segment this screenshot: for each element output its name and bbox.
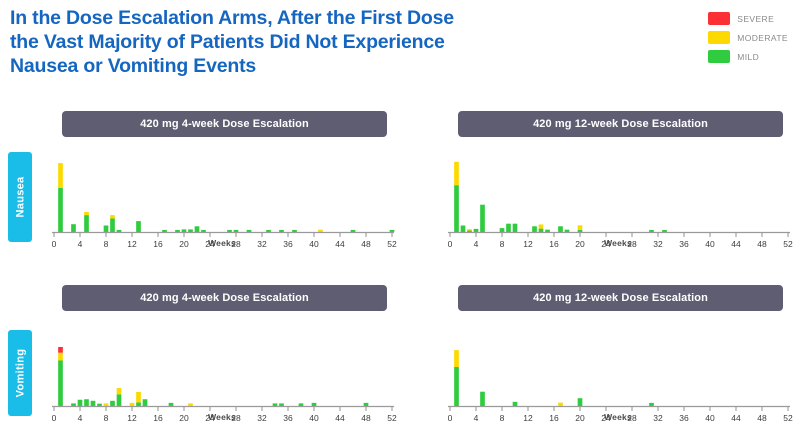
- bar-segment: [292, 230, 297, 232]
- chart-vomiting-4week: 0481216202428323640444852 Weeks: [46, 324, 398, 436]
- bar-segment: [474, 229, 479, 232]
- bar-segment: [461, 226, 466, 233]
- panel-header-nausea-12week: 420 mg 12-week Dose Escalation: [458, 111, 783, 137]
- bar-segment: [136, 221, 141, 232]
- bar-segment: [143, 399, 148, 406]
- legend-item-moderate: MODERATE: [708, 31, 788, 44]
- legend-label-moderate: MODERATE: [737, 33, 788, 43]
- bar-segment: [558, 403, 563, 406]
- bar-segment: [578, 225, 583, 230]
- bar-segment: [117, 230, 122, 232]
- bar-segment: [279, 403, 284, 406]
- xaxis-title-nausea-4week: Weeks: [46, 238, 398, 248]
- panel-header-nausea-4week: 420 mg 4-week Dose Escalation: [62, 111, 387, 137]
- bar-segment: [480, 392, 485, 406]
- legend-label-severe: SEVERE: [737, 14, 774, 24]
- chart-nausea-12week: 0481216202428323640444852 Weeks: [442, 150, 794, 262]
- bar-segment: [312, 403, 317, 406]
- severity-legend: SEVERE MODERATE MILD: [708, 12, 788, 63]
- bar-segment: [91, 401, 96, 406]
- row-label-nausea: Nausea: [8, 152, 32, 242]
- bar-segment: [454, 185, 459, 232]
- bar-segment: [104, 403, 109, 406]
- legend-swatch-moderate: [708, 31, 730, 44]
- bar-segment: [188, 229, 193, 232]
- bar-segment: [104, 226, 109, 233]
- bar-segment: [480, 205, 485, 232]
- bar-segment: [545, 230, 550, 232]
- bar-segment: [71, 403, 76, 406]
- bar-segment: [162, 230, 167, 232]
- bar-segment: [467, 230, 472, 232]
- bar-segment: [578, 230, 583, 232]
- bar-segment: [649, 230, 654, 232]
- bar-segment: [58, 347, 63, 353]
- bar-segment: [110, 401, 115, 406]
- bar-segment: [136, 392, 141, 402]
- bar-segment: [234, 230, 239, 232]
- panel-header-vomiting-12week: 420 mg 12-week Dose Escalation: [458, 285, 783, 311]
- bar-segment: [454, 367, 459, 406]
- legend-swatch-severe: [708, 12, 730, 25]
- page-title-line-1: In the Dose Escalation Arms, After the F…: [10, 6, 630, 30]
- bar-segment: [364, 403, 369, 406]
- row-label-vomiting-text: Vomiting: [14, 349, 26, 398]
- page-title-line-3: Nausea or Vomiting Events: [10, 54, 630, 78]
- bar-segment: [558, 226, 563, 232]
- bar-segment: [84, 399, 89, 406]
- bar-segment: [195, 226, 200, 232]
- bar-segment: [188, 403, 193, 406]
- bar-segment: [532, 226, 537, 232]
- bar-segment: [351, 230, 356, 232]
- bar-segment: [299, 403, 304, 406]
- bar-segment: [84, 212, 89, 215]
- bar-segment: [539, 229, 544, 232]
- bar-segment: [78, 400, 83, 406]
- xaxis-title-nausea-12week: Weeks: [442, 238, 794, 248]
- bar-segment: [513, 224, 518, 232]
- bar-segment: [130, 403, 135, 406]
- chart-vomiting-12week: 0481216202428323640444852 Weeks: [442, 324, 794, 436]
- bar-segment: [117, 388, 122, 394]
- bar-segment: [110, 218, 115, 232]
- bar-segment: [454, 162, 459, 185]
- page-title-line-2: the Vast Majority of Patients Did Not Ex…: [10, 30, 630, 54]
- bar-segment: [201, 230, 206, 232]
- bar-segment: [58, 361, 63, 407]
- bar-segment: [182, 229, 187, 232]
- bar-segment: [390, 230, 395, 232]
- bar-segment: [117, 394, 122, 406]
- bar-segment: [84, 215, 89, 232]
- legend-label-mild: MILD: [737, 52, 759, 62]
- panel-header-vomiting-4week: 420 mg 4-week Dose Escalation: [62, 285, 387, 311]
- bar-segment: [649, 403, 654, 406]
- legend-item-mild: MILD: [708, 50, 788, 63]
- bar-segment: [279, 230, 284, 232]
- bar-segment: [97, 404, 102, 406]
- page-title: In the Dose Escalation Arms, After the F…: [10, 6, 630, 78]
- bar-segment: [110, 215, 115, 218]
- bar-segment: [454, 350, 459, 367]
- bar-segment: [578, 398, 583, 406]
- chart-nausea-4week: 0481216202428323640444852 Weeks: [46, 150, 398, 262]
- bar-segment: [273, 403, 278, 406]
- bar-segment: [539, 224, 544, 228]
- bar-segment: [58, 353, 63, 361]
- bar-segment: [513, 402, 518, 406]
- legend-swatch-mild: [708, 50, 730, 63]
- bar-segment: [71, 224, 76, 232]
- bar-segment: [247, 230, 252, 232]
- bar-segment: [318, 230, 323, 232]
- xaxis-title-vomiting-4week: Weeks: [46, 412, 398, 422]
- bar-segment: [506, 224, 511, 232]
- bar-segment: [136, 402, 141, 406]
- bar-segment: [58, 163, 63, 188]
- bar-segment: [175, 230, 180, 232]
- bar-segment: [565, 230, 570, 232]
- bar-segment: [467, 229, 472, 231]
- xaxis-title-vomiting-12week: Weeks: [442, 412, 794, 422]
- bar-segment: [227, 230, 232, 232]
- bar-segment: [662, 230, 667, 232]
- bar-segment: [500, 228, 505, 232]
- bar-segment: [58, 188, 63, 232]
- row-label-nausea-text: Nausea: [14, 177, 26, 218]
- legend-item-severe: SEVERE: [708, 12, 788, 25]
- bar-segment: [169, 403, 174, 406]
- row-label-vomiting: Vomiting: [8, 330, 32, 416]
- bar-segment: [266, 230, 271, 232]
